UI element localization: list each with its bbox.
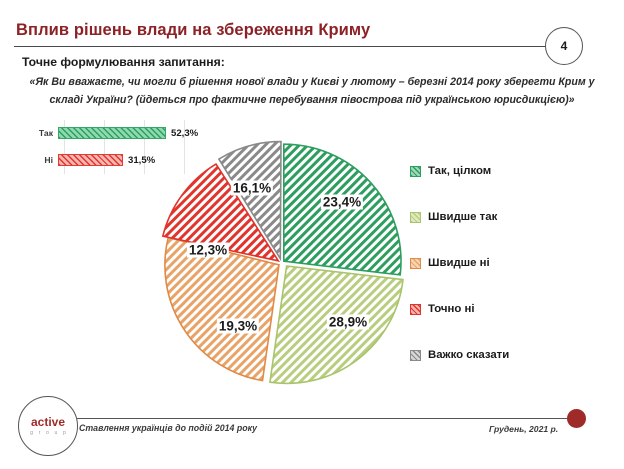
bar-no — [58, 154, 123, 166]
pie-value-yes-fully: 23,4% — [321, 195, 363, 210]
footer-study-title: Ставлення українців до подій 2014 року — [79, 423, 257, 433]
pie-slice-rather-no — [165, 238, 279, 381]
legend-label: Швидше ні — [428, 257, 490, 269]
question-label: Точне формулювання запитання: — [22, 55, 225, 69]
pie-legend: Так, цілком Швидше так Швидше ні Точно н… — [410, 148, 610, 378]
legend-swatch-icon — [410, 304, 421, 315]
page-title: Вплив рішень влади на збереження Криму — [16, 21, 370, 40]
header-divider — [14, 46, 555, 47]
pie-slice-yes-fully — [284, 144, 401, 275]
legend-label: Важко сказати — [428, 349, 509, 361]
bar-category-label: Ні — [12, 155, 58, 165]
footer-date: Грудень, 2021 р. — [489, 424, 558, 434]
legend-swatch-icon — [410, 212, 421, 223]
pie-chart-svg — [158, 140, 404, 386]
logo-secondary-text: g r o u p — [28, 430, 68, 436]
page-number-badge: 4 — [545, 27, 583, 65]
legend-label: Швидше так — [428, 211, 497, 223]
slide-root: Вплив рішень влади на збереження Криму 4… — [0, 0, 624, 469]
legend-item-hard-to-say[interactable]: Важко сказати — [410, 332, 610, 378]
legend-swatch-icon — [410, 258, 421, 269]
pie-value-definitely-no: 12,3% — [187, 243, 229, 258]
pie-value-hard-to-say: 16,1% — [231, 181, 273, 196]
legend-item-definitely-no[interactable]: Точно ні — [410, 286, 610, 332]
pie-value-rather-yes: 28,9% — [327, 315, 369, 330]
bar-category-label: Так — [12, 128, 58, 138]
footer-divider — [72, 418, 573, 419]
question-text: «Як Ви вважаєте, чи могли б рішення ново… — [26, 73, 598, 109]
active-group-logo: active g r o u p — [18, 396, 78, 456]
footer-accent-dot-icon — [567, 409, 586, 428]
pie-chart: 23,4% 28,9% 19,3% 12,3% 16,1% — [158, 140, 404, 386]
bar-value-yes: 52,3% — [171, 128, 198, 139]
legend-item-yes-fully[interactable]: Так, цілком — [410, 148, 610, 194]
bar-yes — [58, 127, 166, 139]
legend-item-rather-yes[interactable]: Швидше так — [410, 194, 610, 240]
legend-swatch-icon — [410, 350, 421, 361]
legend-label: Так, цілком — [428, 165, 491, 177]
legend-item-rather-no[interactable]: Швидше ні — [410, 240, 610, 286]
logo-primary-text: active — [31, 416, 65, 428]
bar-value-no: 31,5% — [128, 155, 155, 166]
pie-value-rather-no: 19,3% — [217, 319, 259, 334]
legend-swatch-icon — [410, 166, 421, 177]
legend-label: Точно ні — [428, 303, 475, 315]
